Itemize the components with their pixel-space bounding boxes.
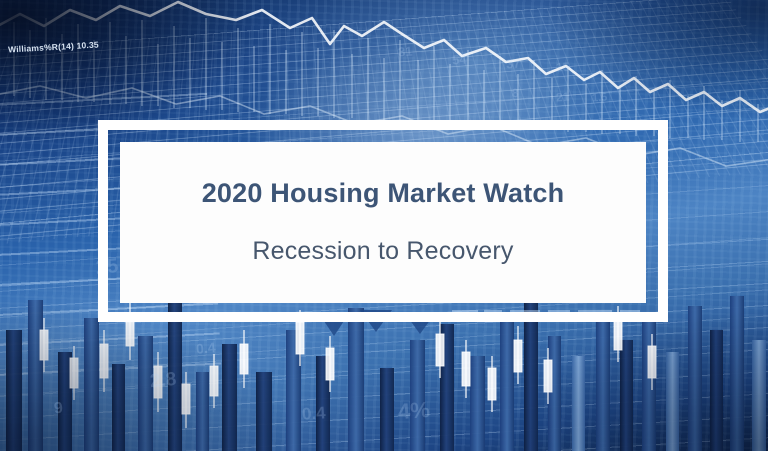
page-subtitle: Recession to Recovery	[252, 238, 513, 266]
title-card-panel: 2020 Housing Market Watch Recession to R…	[120, 142, 646, 303]
page-title: 2020 Housing Market Watch	[202, 179, 565, 209]
housing-market-banner: 315437158211.5252.51%4%2.80.490.4 Willia…	[0, 0, 768, 451]
